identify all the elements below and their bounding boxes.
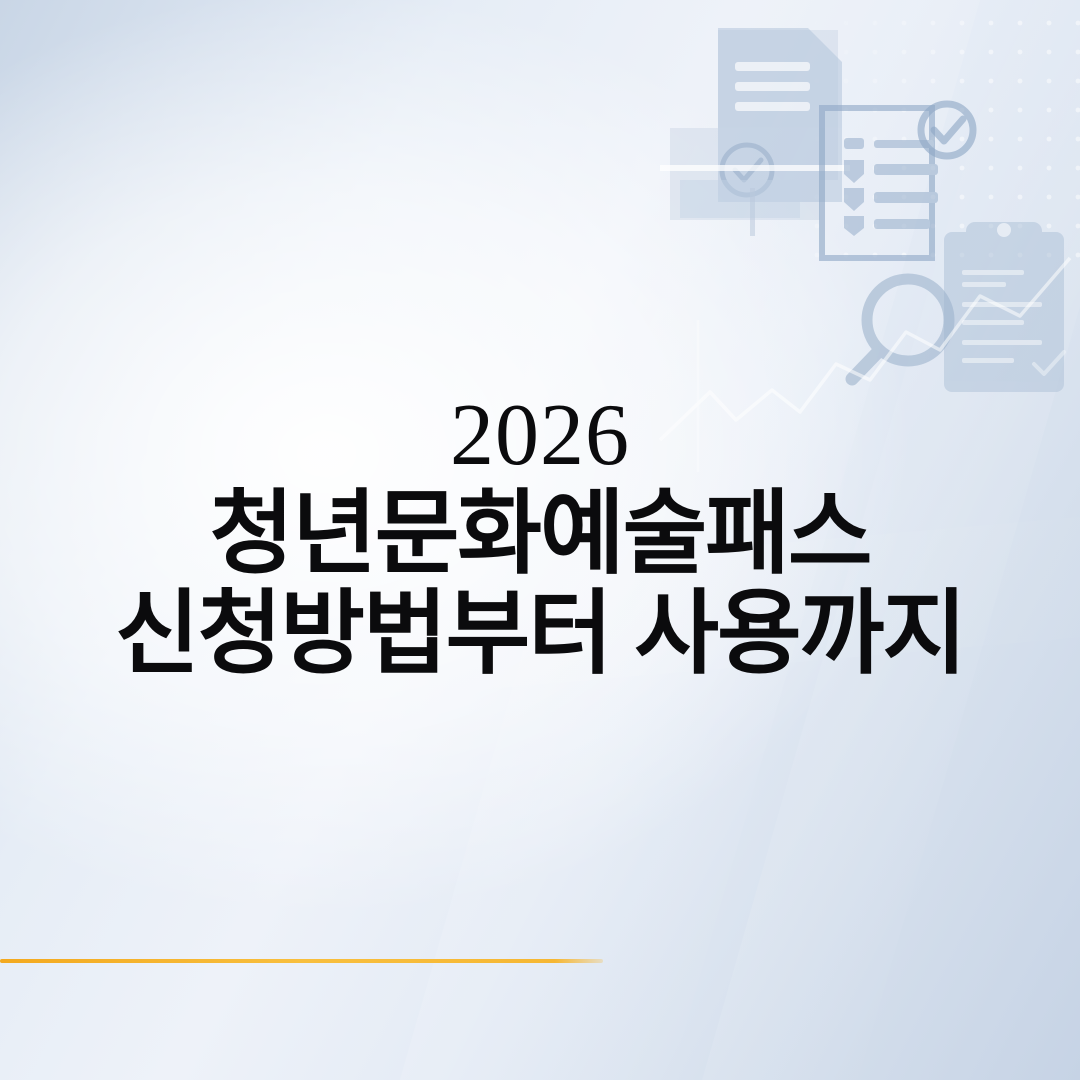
dot-grid-pattern xyxy=(810,20,1080,280)
checklist-form xyxy=(822,108,938,258)
page-title: 2026 청년문화예술패스 신청방법부터 사용까지 xyxy=(0,392,1080,680)
panel-highlight-streak xyxy=(660,165,850,171)
panel-base xyxy=(680,180,800,218)
check-circle-right xyxy=(921,104,973,156)
document-with-text-lines xyxy=(718,28,842,202)
background-panel xyxy=(670,30,838,220)
title-line-program-name: 청년문화예술패스 xyxy=(0,488,1080,580)
panel-stem xyxy=(750,188,755,236)
clipboard-icon xyxy=(944,222,1064,392)
check-circle-left xyxy=(722,145,772,195)
title-line-subtitle: 신청방법부터 사용까지 xyxy=(0,588,1080,680)
title-card: 2026 청년문화예술패스 신청방법부터 사용까지 xyxy=(0,0,1080,1080)
magnifier-icon xyxy=(852,279,949,379)
bottom-accent-rule xyxy=(0,959,603,963)
title-line-year: 2026 xyxy=(0,392,1080,480)
